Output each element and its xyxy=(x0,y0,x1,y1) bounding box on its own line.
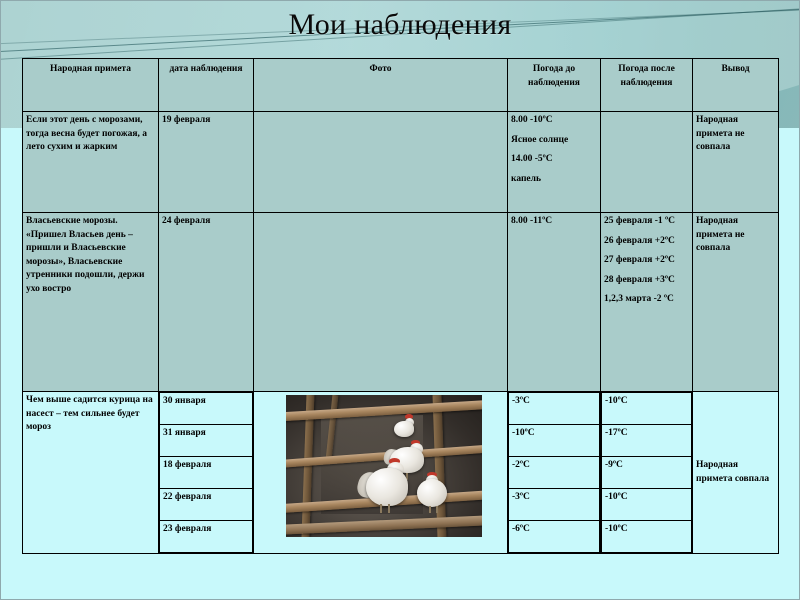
weather-after-subrow: -10ºC xyxy=(602,521,692,553)
temp-after: -10ºC xyxy=(602,393,692,425)
weather-after-subrow: -10ºC xyxy=(602,393,692,425)
weather-before-line: 8.00 -10ºC xyxy=(511,114,597,128)
table-row: Власьевские морозы. «Пришел Власьев день… xyxy=(23,213,779,392)
weather-before-subrow: -6ºC xyxy=(509,521,600,553)
weather-after-line: 26 февраля +2ºC xyxy=(604,235,689,249)
cell-weather-before: 8.00 -10ºC Ясное солнце 14.00 -5ºC капел… xyxy=(508,112,601,213)
column-header-weather-before: Погода до наблюдения xyxy=(508,59,601,112)
weather-before-line: капель xyxy=(511,173,597,187)
weather-before-subrow: -10ºC xyxy=(509,425,600,457)
temp-after: -17ºC xyxy=(602,425,692,457)
table-row: Чем выше садится курица на насест – тем … xyxy=(23,392,779,554)
cell-weather-after xyxy=(601,112,693,213)
temp-before: -10ºC xyxy=(509,425,600,457)
column-header-date: дата наблюдения xyxy=(159,59,254,112)
observation-date: 23 февраля xyxy=(160,521,253,553)
cell-date: 19 февраля xyxy=(159,112,254,213)
weather-after-subrow: -17ºC xyxy=(602,425,692,457)
temp-before: -2ºC xyxy=(509,457,600,489)
cell-conclusion: Народная примета не совпала xyxy=(693,112,779,213)
chicken-body xyxy=(394,421,414,437)
weather-after-line: 25 февраля -1 ºC xyxy=(604,215,689,229)
temp-after: -10ºC xyxy=(602,521,692,553)
cell-weather-after: 25 февраля -1 ºC 26 февраля +2ºC 27 февр… xyxy=(601,213,693,392)
chicken-body xyxy=(366,468,408,506)
table-header: Народная примета дата наблюдения Фото По… xyxy=(23,59,779,112)
column-header-photo: Фото xyxy=(254,59,508,112)
weather-before-line: 8.00 -11ºC xyxy=(511,215,597,229)
cell-conclusion: Народная примета совпала xyxy=(693,392,779,554)
column-header-omen: Народная примета xyxy=(23,59,159,112)
weather-before-subrow: -2ºC xyxy=(509,457,600,489)
cell-photo xyxy=(254,213,508,392)
chicken-leg xyxy=(380,504,382,513)
table-body: Если этот день с морозами, тогда весна б… xyxy=(23,112,779,554)
chicken xyxy=(415,475,451,507)
date-subtable: 30 января 31 января 18 февраля 22 феврал… xyxy=(159,392,253,553)
cell-omen: Чем выше садится курица на насест – тем … xyxy=(23,392,159,554)
page-title: Мои наблюдения xyxy=(0,6,800,44)
weather-after-subtable: -10ºC -17ºC -9ºC -10ºC -10ºC xyxy=(601,392,692,553)
date-subrow: 22 февраля xyxy=(160,489,253,521)
weather-before-subrow: -3ºC xyxy=(509,393,600,425)
chicken-leg xyxy=(436,506,438,513)
presentation-slide: Мои наблюдения Народная примета дата наб… xyxy=(0,0,800,600)
chickens-on-roost-photo xyxy=(286,395,482,537)
cell-photo xyxy=(254,392,508,554)
column-header-weather-after: Погода после наблюдения xyxy=(601,59,693,112)
temp-before: -3ºC xyxy=(509,393,600,425)
weather-before-line: Ясное солнце xyxy=(511,134,597,148)
weather-after-subrow: -9ºC xyxy=(602,457,692,489)
chicken-leg xyxy=(388,504,390,513)
temp-after: -9ºC xyxy=(602,457,692,489)
date-subrow: 31 января xyxy=(160,425,253,457)
cell-photo xyxy=(254,112,508,213)
temp-before: -6ºC xyxy=(509,521,600,553)
observations-table: Народная примета дата наблюдения Фото По… xyxy=(22,58,779,554)
chicken-body xyxy=(417,479,447,507)
observation-date: 30 января xyxy=(160,393,253,425)
cell-weather-before-group: -3ºC -10ºC -2ºC -3ºC -6ºC xyxy=(508,392,601,554)
cell-date-group: 30 января 31 января 18 февраля 22 феврал… xyxy=(159,392,254,554)
weather-after-subrow: -10ºC xyxy=(602,489,692,521)
column-header-conclusion: Вывод xyxy=(693,59,779,112)
weather-before-subtable: -3ºC -10ºC -2ºC -3ºC -6ºC xyxy=(508,392,600,553)
temp-after: -10ºC xyxy=(602,489,692,521)
temp-before: -3ºC xyxy=(509,489,600,521)
date-subrow: 23 февраля xyxy=(160,521,253,553)
observation-date: 22 февраля xyxy=(160,489,253,521)
date-subrow: 30 января xyxy=(160,393,253,425)
weather-before-subrow: -3ºC xyxy=(509,489,600,521)
cell-conclusion: Народная примета не совпала xyxy=(693,213,779,392)
weather-after-line: 27 февраля +2ºC xyxy=(604,254,689,268)
observation-date: 31 января xyxy=(160,425,253,457)
cell-omen: Власьевские морозы. «Пришел Власьев день… xyxy=(23,213,159,392)
weather-after-line: 1,2,3 марта -2 ºC xyxy=(604,293,689,307)
table-row: Если этот день с морозами, тогда весна б… xyxy=(23,112,779,213)
weather-before-line: 14.00 -5ºC xyxy=(511,153,597,167)
date-subrow: 18 февраля xyxy=(160,457,253,489)
chicken xyxy=(392,418,418,438)
cell-weather-after-group: -10ºC -17ºC -9ºC -10ºC -10ºC xyxy=(601,392,693,554)
weather-after-line: 28 февраля +3ºC xyxy=(604,274,689,288)
chicken xyxy=(360,462,416,506)
cell-weather-before: 8.00 -11ºC xyxy=(508,213,601,392)
table-header-row: Народная примета дата наблюдения Фото По… xyxy=(23,59,779,112)
observation-date: 18 февраля xyxy=(160,457,253,489)
cell-omen: Если этот день с морозами, тогда весна б… xyxy=(23,112,159,213)
observations-table-wrapper: Народная примета дата наблюдения Фото По… xyxy=(22,58,778,554)
cell-date: 24 февраля xyxy=(159,213,254,392)
chicken-leg xyxy=(429,506,431,513)
